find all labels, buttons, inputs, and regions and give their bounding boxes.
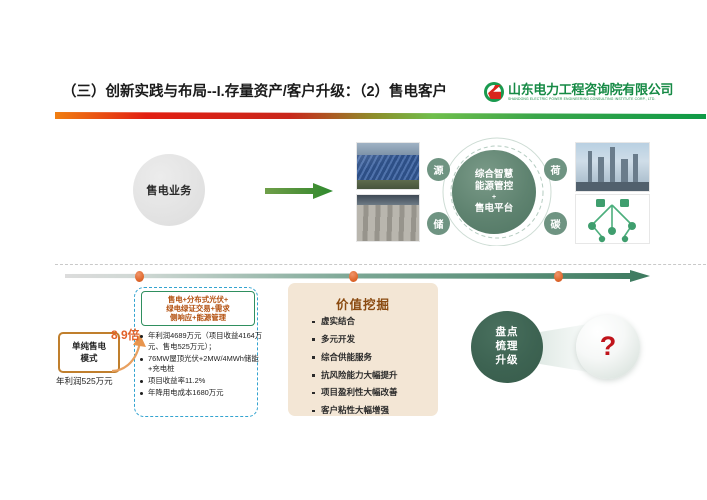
hub-core: 综合智慧 能源管控 + 售电平台 — [452, 150, 536, 234]
list-item: 客户粘性大幅增强 — [312, 406, 398, 415]
hub-node-storage: 储 — [427, 212, 450, 235]
list-item: 年利润4689万元（项目收益4164万元、售电525万元）； — [148, 331, 264, 352]
simple-mode-profit: 年利润525万元 — [56, 375, 113, 387]
timeline-arrow — [65, 270, 650, 282]
green-right-arrow-icon — [265, 183, 333, 199]
energy-hub-diagram: 综合智慧 能源管控 + 售电平台 源 荷 储 碳 — [416, 136, 578, 246]
business-circle: 售电业务 — [133, 154, 205, 226]
timeline-dot-3 — [554, 271, 563, 282]
company-name-cn: 山东电力工程咨询院有限公司 — [508, 83, 673, 96]
list-item: 综合供能服务 — [312, 353, 398, 362]
hub-node-carbon: 碳 — [544, 212, 567, 235]
list-item: 多元开发 — [312, 335, 398, 344]
hub-core-line3: 售电平台 — [475, 203, 513, 215]
company-logo: 山东电力工程咨询院有限公司 SHANDONG ELECTRIC POWER EN… — [484, 79, 656, 105]
thumbnail-industrial-city — [575, 142, 650, 192]
section-divider — [55, 264, 706, 266]
question-sphere: ? — [576, 315, 640, 379]
collage-group: 综合智慧 能源管控 + 售电平台 源 荷 储 碳 — [352, 136, 652, 246]
timeline-dot-1 — [135, 271, 144, 282]
list-item: 项目盈利性大幅改善 — [312, 388, 398, 397]
value-item-list: 虚实结合 多元开发 综合供能服务 抗风险能力大幅提升 项目盈利性大幅改善 客户粘… — [312, 317, 398, 424]
list-item: 项目收益率11.2% — [148, 376, 264, 387]
combo-header-line-1: 售电+分布式光伏+ — [144, 295, 252, 304]
review-circle-line-3: 升级 — [496, 354, 519, 368]
hub-node-load: 荷 — [544, 158, 567, 181]
thumbnail-rooftop-solar — [356, 142, 420, 190]
question-mark-icon: ? — [600, 333, 617, 360]
hub-core-plus: + — [492, 194, 496, 203]
slide-root: （三）创新实践与布局--I.存量资产/客户升级：（2）售电客户 山东电力工程咨询… — [0, 0, 707, 500]
list-item: 抗风险能力大幅提升 — [312, 371, 398, 380]
review-circle-line-2: 梳理 — [496, 340, 519, 354]
page-title: （三）创新实践与布局--I.存量资产/客户升级：（2）售电客户 — [62, 80, 447, 101]
thumbnail-energy-storage — [356, 194, 420, 242]
multiplier-label: 8.9倍 — [111, 326, 140, 343]
value-panel-title: 价值挖掘 — [288, 294, 438, 313]
company-logo-icon — [484, 82, 504, 102]
combo-header-line-2: 绿电绿证交易+需求 — [144, 304, 252, 313]
hub-core-line2: 能源管控 — [475, 181, 513, 193]
simple-mode-line1: 单纯售电 — [72, 341, 106, 352]
list-item: 年降用电成本1680万元 — [148, 388, 264, 399]
hub-node-source: 源 — [427, 158, 450, 181]
list-item: 虚实结合 — [312, 317, 398, 326]
combo-header-line-3: 侧响应+能源管理 — [144, 313, 252, 322]
combo-mode-header: 售电+分布式光伏+ 绿电绿证交易+需求 侧响应+能源管理 — [141, 291, 255, 326]
review-circle-line-1: 盘点 — [496, 326, 519, 340]
business-circle-label: 售电业务 — [146, 182, 191, 198]
value-mining-panel: 价值挖掘 虚实结合 多元开发 综合供能服务 抗风险能力大幅提升 项目盈利性大幅改… — [288, 283, 438, 416]
simple-mode-line2: 模式 — [80, 353, 97, 364]
timeline-dot-2 — [349, 271, 358, 282]
header-gradient-rule — [55, 112, 706, 119]
combo-bullet-list: 年利润4689万元（项目收益4164万元、售电525万元）； 76MW屋顶光伏+… — [139, 331, 264, 400]
list-item: 76MW屋顶光伏+2MW/4MWh储能+充电桩 — [148, 354, 264, 375]
thumbnail-grid-network — [575, 194, 650, 244]
hub-core-line1: 综合智慧 — [475, 169, 513, 181]
company-name-en: SHANDONG ELECTRIC POWER ENGINEERING CONS… — [508, 98, 673, 101]
review-upgrade-circle: 盘点 梳理 升级 — [471, 311, 543, 383]
